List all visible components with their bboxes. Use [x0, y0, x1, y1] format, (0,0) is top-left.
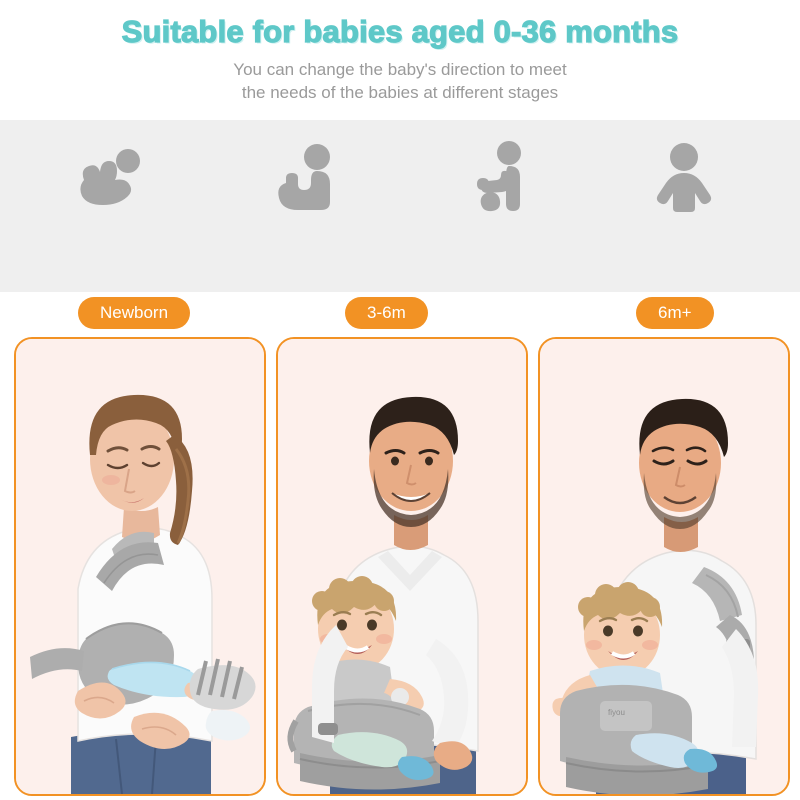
card-badge-newborn: Newborn [78, 297, 190, 329]
age-timeline: 0 3 6 12 16 Newborn 0~3m Baby looking up… [0, 120, 800, 292]
card-badge-3-6m: 3-6m [345, 297, 428, 329]
baby-looking-up-icon [272, 140, 344, 212]
baby-sitting-icon [467, 140, 539, 212]
photo-mother-holding-newborn [16, 339, 264, 794]
photo-father-with-toddler-hip-seat: fiyou [540, 339, 788, 794]
photo-father-with-baby-facing-out [278, 339, 526, 794]
newborn-lying-icon [74, 140, 146, 212]
page-title: Suitable for babies aged 0-36 months [0, 14, 800, 50]
usage-card-6m-plus[interactable]: fiyou [538, 337, 790, 796]
usage-card-newborn[interactable] [14, 337, 266, 796]
usage-cards: Newborn [0, 292, 800, 800]
svg-text:fiyou: fiyou [608, 708, 625, 717]
subtitle-line-2: the needs of the babies at different sta… [0, 81, 800, 104]
card-badge-6m-plus: 6m+ [636, 297, 714, 329]
usage-card-3-6m[interactable] [276, 337, 528, 796]
baby-standing-icon [648, 140, 720, 212]
page-subtitle: You can change the baby's direction to m… [0, 58, 800, 104]
header: Suitable for babies aged 0-36 months You… [0, 0, 800, 120]
subtitle-line-1: You can change the baby's direction to m… [0, 58, 800, 81]
